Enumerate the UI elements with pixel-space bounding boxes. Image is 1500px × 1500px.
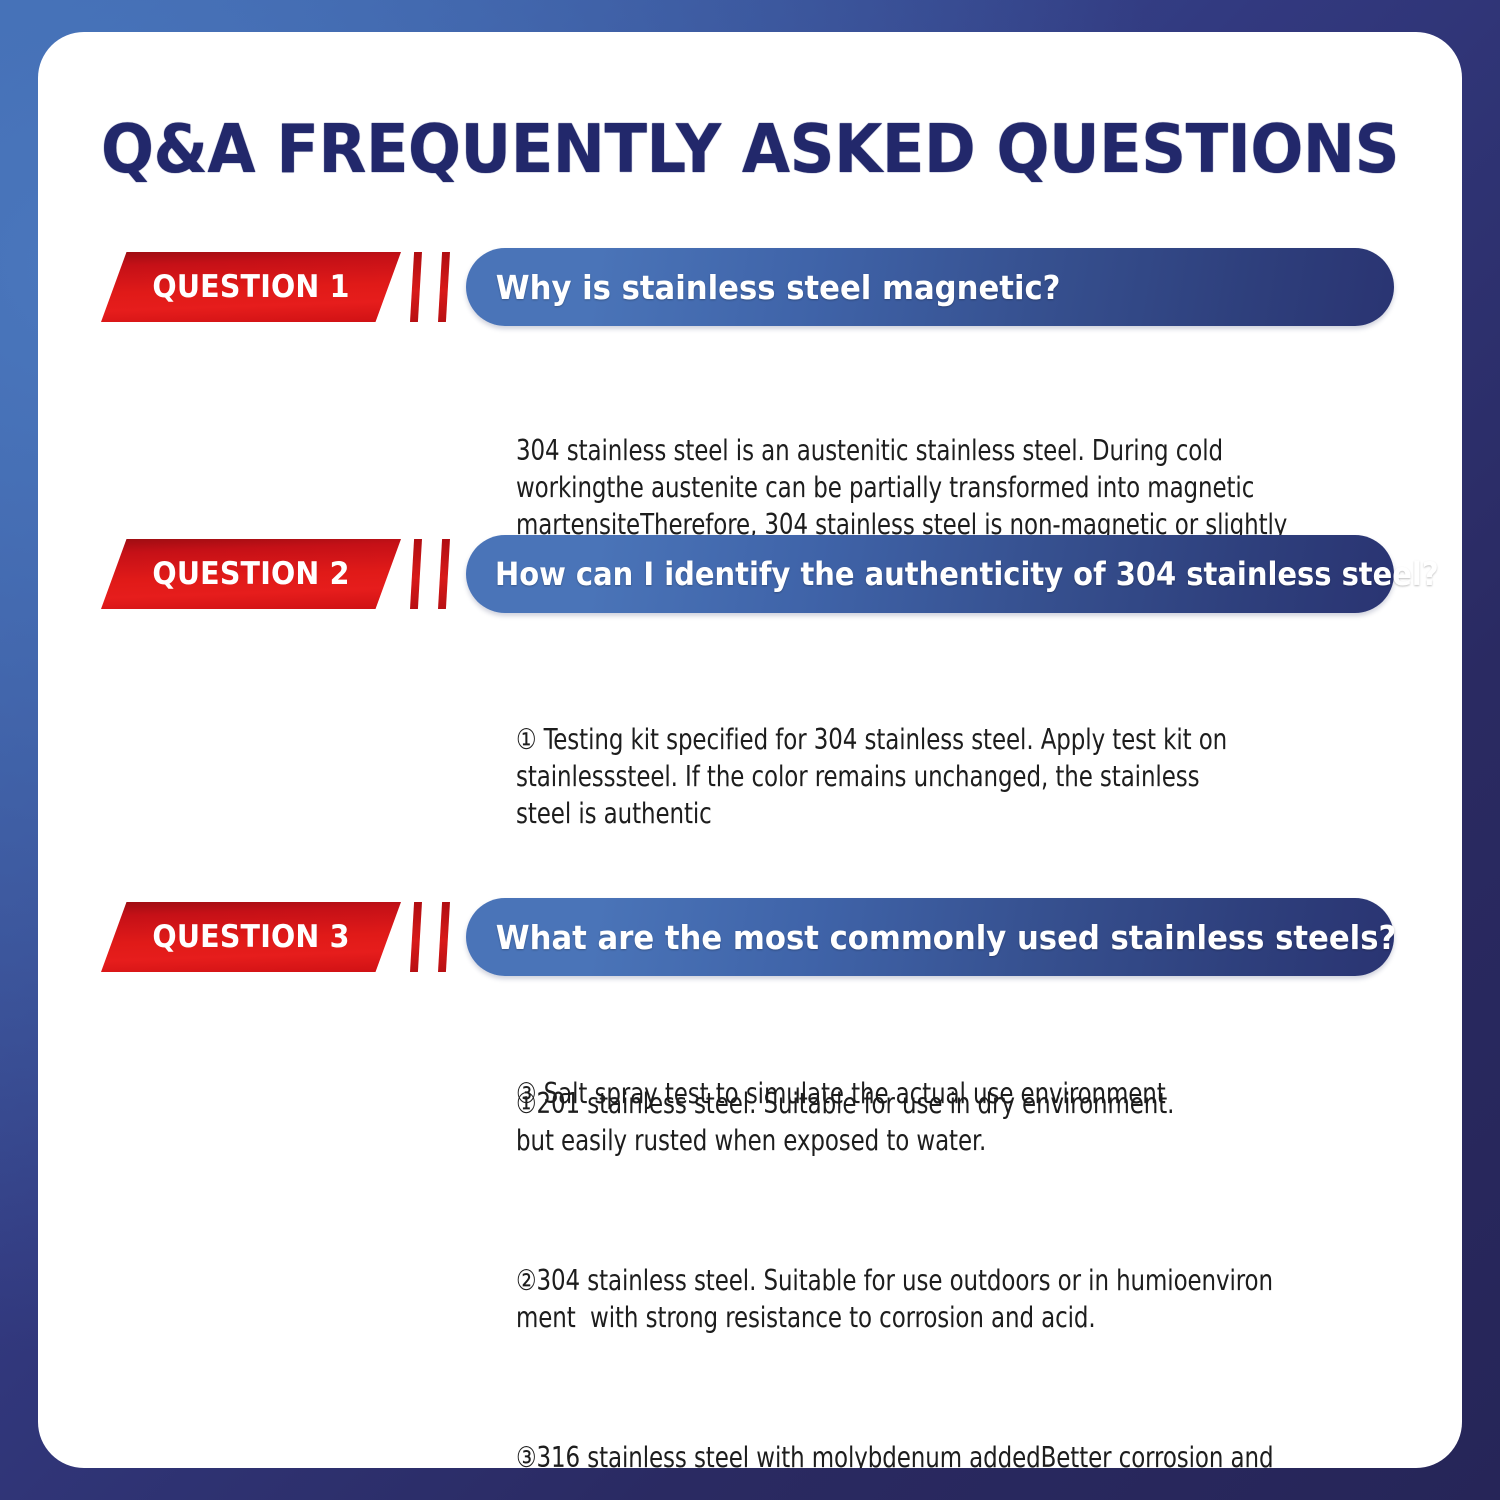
qa-block-3: QUESTION 3 What are the most commonly us… <box>38 898 1462 976</box>
answer-paragraph: ②304 stainless steel. Suitable for use o… <box>516 1262 1330 1336</box>
qa-block-1: QUESTION 1 Why is stainless steel magnet… <box>38 248 1462 326</box>
slash-icon-2b <box>438 539 450 609</box>
qa-header-2: QUESTION 2 How can I identify the authen… <box>38 535 1462 613</box>
question-title-1: Why is stainless steel magnetic? <box>466 248 1329 326</box>
answer-paragraph: ③316 stainless steel with molybdenum add… <box>516 1439 1330 1468</box>
faq-card: Q&A FREQUENTLY ASKED QUESTIONS QUESTION … <box>38 32 1462 1468</box>
slash-icon-1b <box>438 252 450 322</box>
question-title-3: What are the most commonly used stainles… <box>466 898 1329 976</box>
question-badge-label-3: QUESTION 3 <box>113 902 389 972</box>
page-title: Q&A FREQUENTLY ASKED QUESTIONS <box>88 110 1412 188</box>
slash-icon-2a <box>410 539 422 609</box>
slash-icon-3a <box>410 902 422 972</box>
answer-paragraph: ① Testing kit specified for 304 stainles… <box>516 721 1330 832</box>
slash-icon-1a <box>410 252 422 322</box>
question-title-2: How can I identify the authenticity of 3… <box>466 535 1306 613</box>
answer-body-3: ①201 stainless steel. Suitable for use i… <box>516 1011 1330 1468</box>
qa-header-1: QUESTION 1 Why is stainless steel magnet… <box>38 248 1462 326</box>
qa-block-2: QUESTION 2 How can I identify the authen… <box>38 535 1462 613</box>
question-badge-label-2: QUESTION 2 <box>113 539 389 609</box>
answer-paragraph: ①201 stainless steel. Suitable for use i… <box>516 1085 1330 1159</box>
qa-header-3: QUESTION 3 What are the most commonly us… <box>38 898 1462 976</box>
question-badge-label-1: QUESTION 1 <box>113 252 389 322</box>
page-background: Q&A FREQUENTLY ASKED QUESTIONS QUESTION … <box>0 0 1500 1500</box>
slash-icon-3b <box>438 902 450 972</box>
